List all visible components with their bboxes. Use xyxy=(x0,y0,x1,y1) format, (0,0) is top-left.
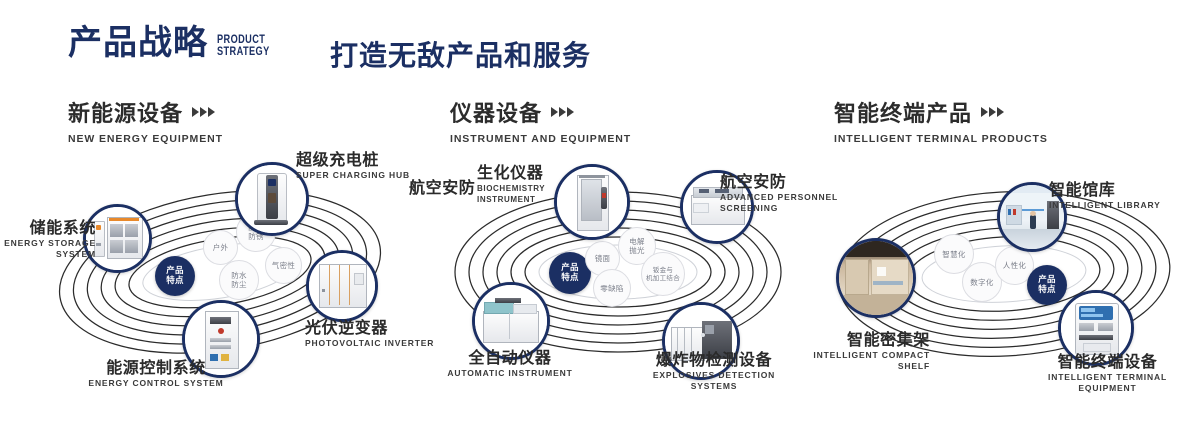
label-intelligent-library: 智能馆库 INTELLIGENT LIBRARY xyxy=(1049,180,1197,211)
chevron-right-icon xyxy=(192,107,215,117)
label-en: BIOCHEMISTRY INSTRUMENT xyxy=(477,183,587,205)
label-en: INTELLIGENT COMPACT SHELF xyxy=(800,350,930,372)
keyword-bubble: 气密性 xyxy=(265,247,302,284)
node-photovoltaic-inverter[interactable] xyxy=(306,250,378,322)
label-en: INTELLIGENT TERMINAL EQUIPMENT xyxy=(1020,372,1195,394)
section-title-cn: 智能终端产品 xyxy=(834,96,972,128)
center-bubble-product-features: 产品 特点 xyxy=(155,256,195,296)
label-energy-control-system: 能源控制系统 ENERGY CONTROL SYSTEM xyxy=(78,358,234,389)
label-en: INTELLIGENT LIBRARY xyxy=(1049,200,1197,211)
intelligent-compact-shelf-icon xyxy=(839,241,913,315)
section-title-en: INSTRUMENT AND EQUIPMENT xyxy=(450,133,631,145)
keyword-bubble: 防水 防尘 xyxy=(219,260,259,300)
label-cn: 智能终端设备 xyxy=(1020,352,1195,371)
section-title-en: NEW ENERGY EQUIPMENT xyxy=(68,133,223,145)
chevron-right-icon xyxy=(551,107,574,117)
poster-canvas: 产品战略 PRODUCT STRATEGY 打造无敌产品和服务 新能源设备 NE… xyxy=(0,0,1200,422)
section-heading-intelligent: 智能终端产品 INTELLIGENT TERMINAL PRODUCTS xyxy=(834,96,1048,145)
label-cn: 能源控制系统 xyxy=(78,358,234,377)
automatic-instrument-icon xyxy=(475,285,547,357)
label-en: EXPLOSIVES DETECTION SYSTEMS xyxy=(635,370,793,392)
label-cn: 智能密集架 xyxy=(800,330,930,349)
page-title: 产品战略 PRODUCT STRATEGY xyxy=(68,26,283,60)
label-automatic-instrument: 全自动仪器 AUTOMATIC INSTRUMENT xyxy=(434,348,586,379)
page-subtitle: 打造无敌产品和服务 xyxy=(330,34,591,74)
label-explosives-detection-system: 爆炸物检测设备 EXPLOSIVES DETECTION SYSTEMS xyxy=(635,350,793,392)
section-heading-new-energy: 新能源设备 NEW ENERGY EQUIPMENT xyxy=(68,96,223,145)
label-cn: 全自动仪器 xyxy=(434,348,586,367)
label-energy-storage-system: 储能系统 ENERGY STORAGE SYSTEM xyxy=(0,218,96,260)
section-title-en: INTELLIGENT TERMINAL PRODUCTS xyxy=(834,133,1048,145)
label-en: ENERGY CONTROL SYSTEM xyxy=(78,378,234,389)
label-cn: 储能系统 xyxy=(0,218,96,237)
keyword-bubble: 零缺陷 xyxy=(593,269,631,307)
section-title-cn: 新能源设备 xyxy=(68,96,183,128)
label-cn: 爆炸物检测设备 xyxy=(635,350,793,369)
keyword-bubble: 钣金与 机加工结合 xyxy=(641,252,685,296)
node-intelligent-compact-shelf[interactable] xyxy=(836,238,916,318)
label-en: ENERGY STORAGE SYSTEM xyxy=(0,238,96,260)
label-en: AUTOMATIC INSTRUMENT xyxy=(434,368,586,379)
section-heading-instrument: 仪器设备 INSTRUMENT AND EQUIPMENT xyxy=(450,96,631,145)
title-chinese: 产品战略 xyxy=(68,26,208,60)
section-title-cn: 仪器设备 xyxy=(450,96,542,128)
title-english: PRODUCT STRATEGY xyxy=(217,34,270,58)
label-intelligent-terminal-equipment: 智能终端设备 INTELLIGENT TERMINAL EQUIPMENT xyxy=(1020,352,1195,394)
label-cn: 生化仪器 xyxy=(477,163,587,182)
chevron-right-icon xyxy=(981,107,1004,117)
label-biochemistry-instrument: 生化仪器 BIOCHEMISTRY INSTRUMENT xyxy=(477,163,587,205)
diagram-new-energy: 产品 特点 户外 防腐 防锈 防水 防尘 气密性 xyxy=(30,152,410,392)
label-intelligent-compact-shelf: 智能密集架 INTELLIGENT COMPACT SHELF xyxy=(800,330,930,372)
photovoltaic-inverter-icon xyxy=(309,253,375,319)
label-cn: 智能馆库 xyxy=(1049,180,1197,199)
